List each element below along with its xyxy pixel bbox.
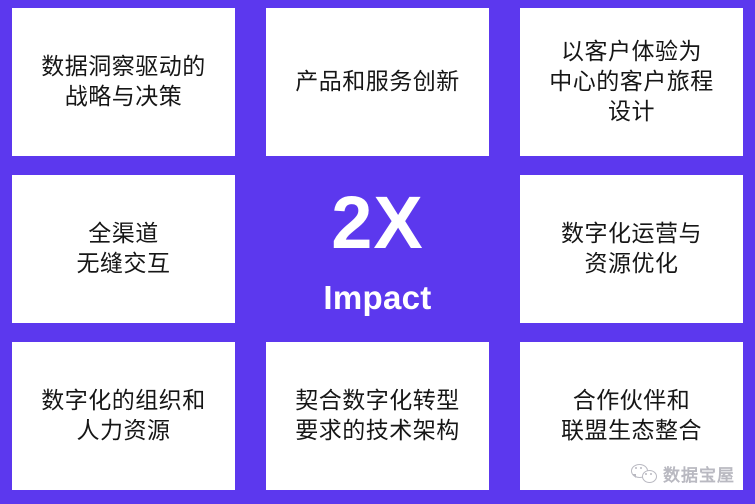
watermark-text: 数据宝屋 <box>663 461 735 486</box>
grid-cell-product-service-innovation[interactable]: 产品和服务创新 <box>266 8 489 156</box>
grid-cell-partner-ecosystem[interactable]: 合作伙伴和 联盟生态整合 数据宝屋 <box>520 342 743 490</box>
cell-label: 合作伙伴和 联盟生态整合 <box>561 386 702 446</box>
grid-cell-data-insight-strategy[interactable]: 数据洞察驱动的 战略与决策 <box>12 8 235 156</box>
watermark: 数据宝屋 <box>631 461 735 486</box>
grid-cell-digital-operations[interactable]: 数字化运营与 资源优化 <box>520 175 743 323</box>
wechat-icon <box>631 464 657 484</box>
grid-cell-tech-architecture[interactable]: 契合数字化转型 要求的技术架构 <box>266 342 489 490</box>
grid-cell-digital-organization[interactable]: 数字化的组织和 人力资源 <box>12 342 235 490</box>
cell-label: 数字化运营与 资源优化 <box>561 219 702 279</box>
grid-cell-center-impact: 2X Impact <box>266 175 489 323</box>
cell-label: 契合数字化转型 要求的技术架构 <box>295 386 460 446</box>
cell-label: 全渠道 无缝交互 <box>77 219 171 279</box>
grid-cell-customer-journey-design[interactable]: 以客户体验为 中心的客户旅程 设计 <box>520 8 743 156</box>
cell-label: 产品和服务创新 <box>295 67 460 97</box>
cell-label: 数字化的组织和 人力资源 <box>41 386 206 446</box>
infographic-canvas: 数据洞察驱动的 战略与决策 产品和服务创新 以客户体验为 中心的客户旅程 设计 … <box>0 0 755 504</box>
impact-grid: 数据洞察驱动的 战略与决策 产品和服务创新 以客户体验为 中心的客户旅程 设计 … <box>12 8 743 490</box>
cell-label: 以客户体验为 中心的客户旅程 设计 <box>549 37 714 127</box>
impact-caption: Impact <box>323 281 431 314</box>
grid-cell-omnichannel-interaction[interactable]: 全渠道 无缝交互 <box>12 175 235 323</box>
cell-label: 数据洞察驱动的 战略与决策 <box>41 52 206 112</box>
impact-metric: 2X <box>331 188 424 258</box>
